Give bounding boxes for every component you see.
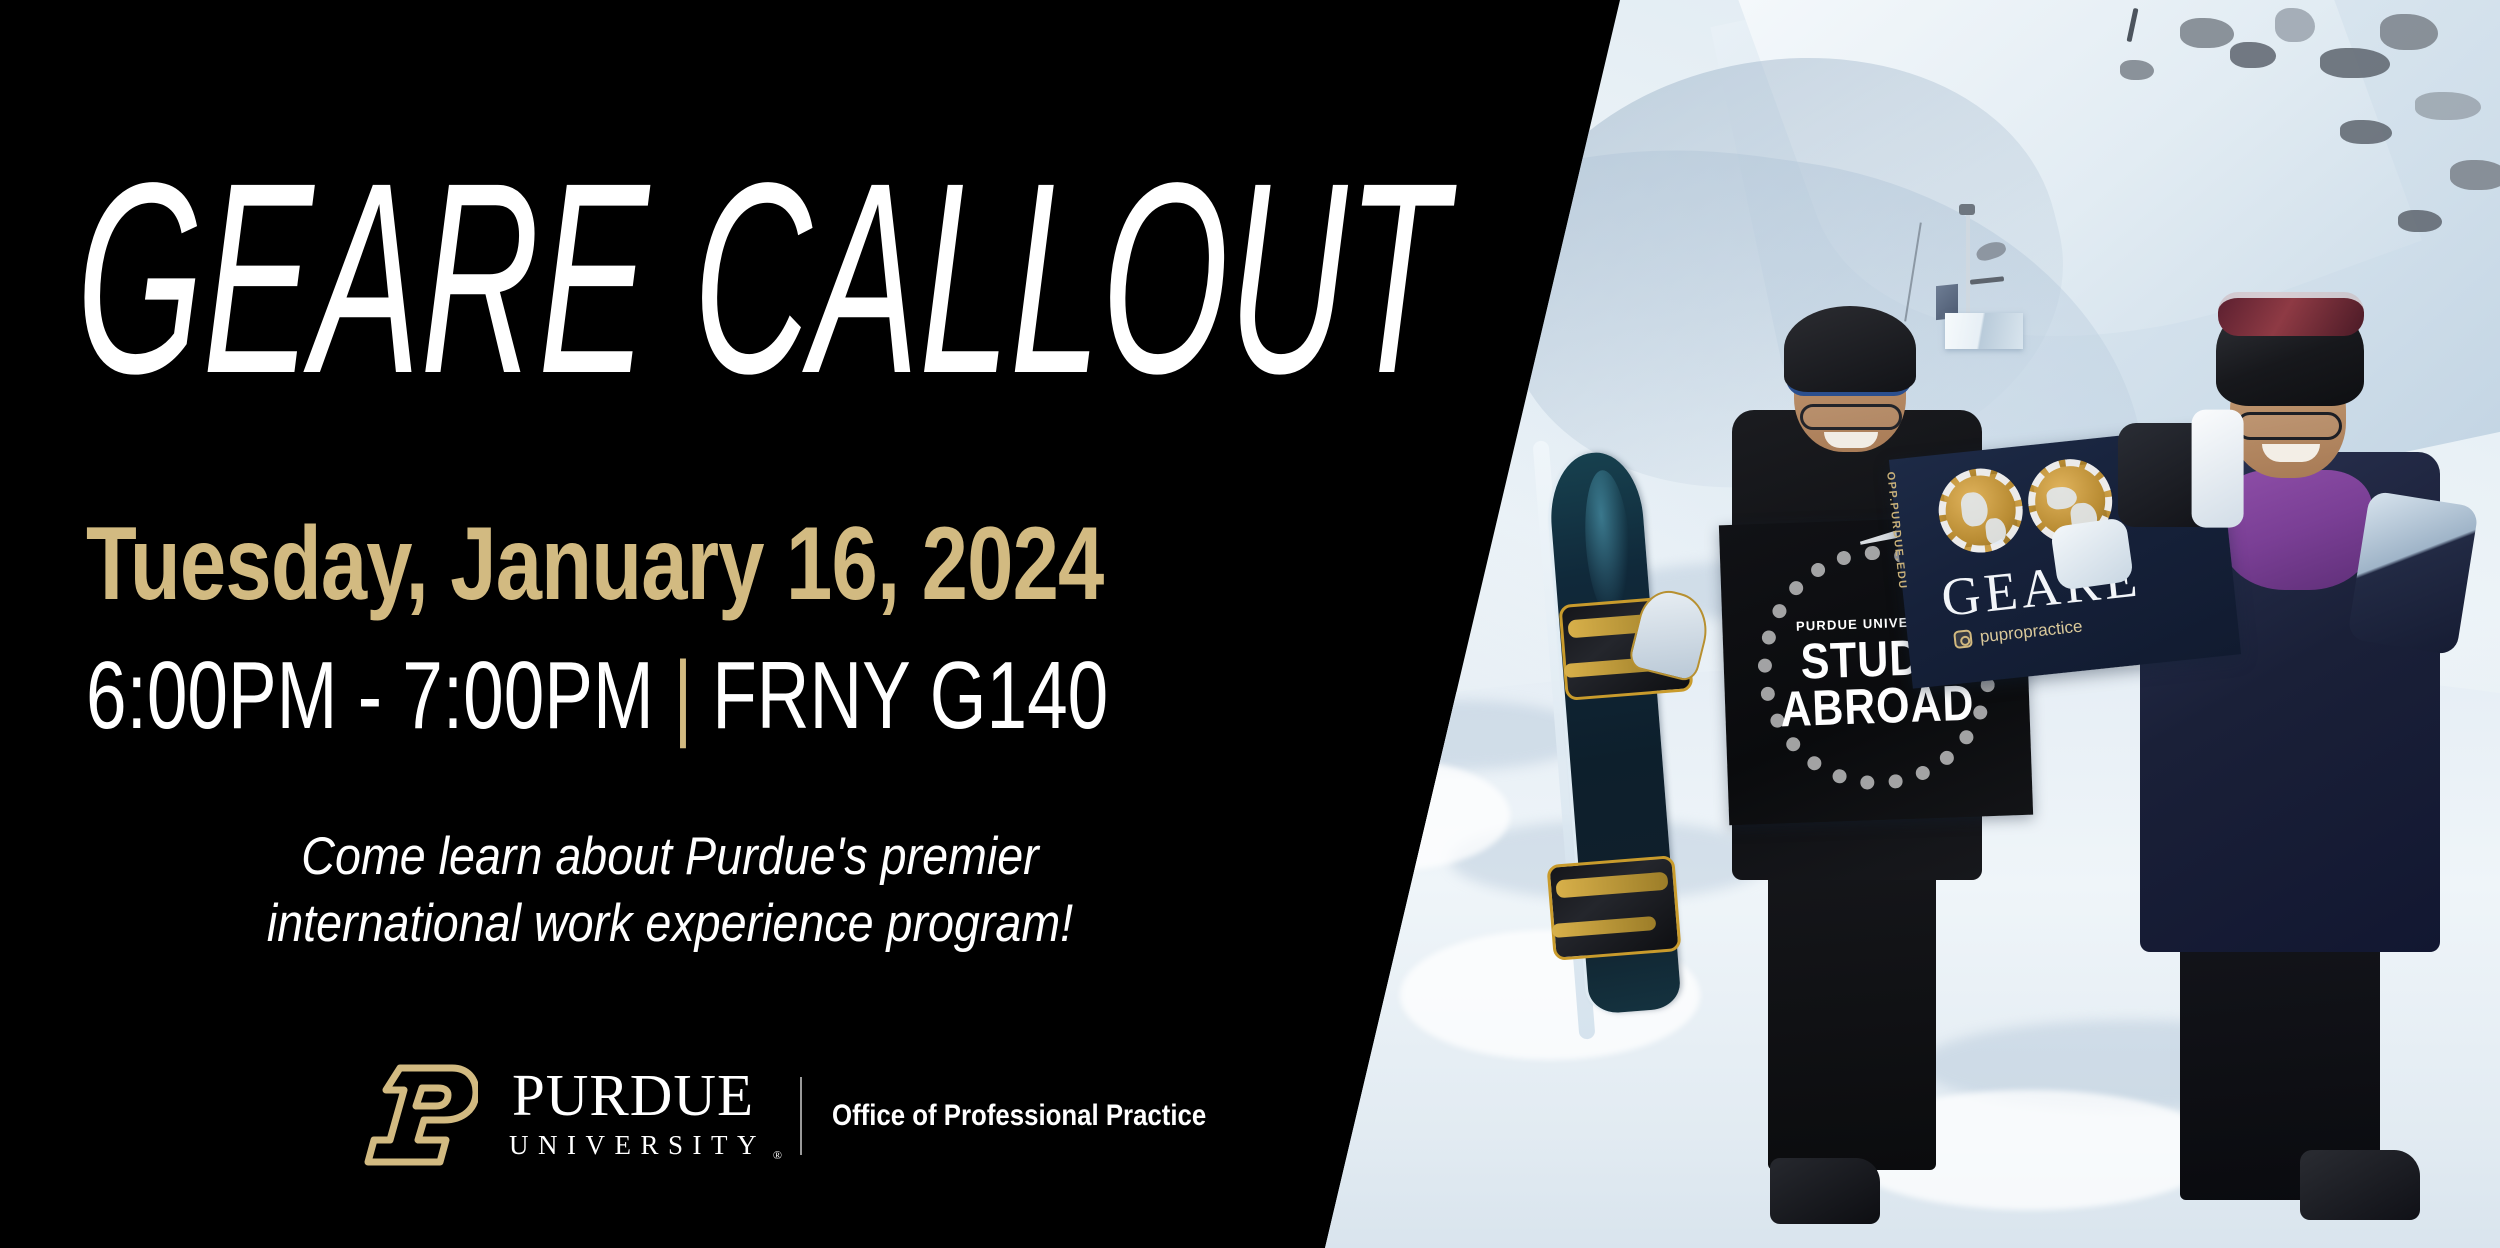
snowboard-binding: [1546, 855, 1681, 961]
rock-outcrop: [2120, 60, 2154, 80]
rock-outcrop: [2450, 160, 2500, 190]
person-right-eyeglasses: [2236, 412, 2342, 440]
purdue-logo-lockup: PURDUE UNIVERSITY ® Office of Profession…: [360, 1062, 1267, 1170]
person-right-cuff: [2192, 410, 2244, 528]
page-title: GEARE CALLOUT: [75, 142, 1447, 414]
registered-trademark-icon: ®: [773, 1146, 782, 1164]
wordmark-university-text: UNIVERSITY: [509, 1130, 766, 1160]
person-right-smile: [2262, 444, 2320, 462]
person-right-scarf: [2222, 470, 2372, 590]
wordmark-purdue: PURDUE: [512, 1066, 754, 1125]
rock-outcrop: [2380, 14, 2438, 50]
event-time-range: 6:00PM - 7:00PM: [86, 648, 654, 744]
person-right-boot: [2300, 1150, 2420, 1220]
person-left-boot: [1770, 1158, 1880, 1224]
tagline-line-2: work experience program!: [534, 894, 1073, 953]
purdue-motion-p-icon: [360, 1062, 478, 1170]
person-right-shoulder: [2347, 490, 2479, 655]
geare-callout-banner: PURDUE UNIVERSITY STUDY ABROAD O: [0, 0, 2500, 1248]
snow-mountain-scene: PURDUE UNIVERSITY STUDY ABROAD O: [1300, 0, 2500, 1248]
anemometer-icon: [1959, 204, 1975, 215]
person-left-helmet: [1784, 306, 1916, 392]
rock-outcrop: [2320, 48, 2390, 78]
instrument-mast: [1966, 214, 1970, 318]
person-left-legs: [1768, 830, 1936, 1170]
instagram-icon: [1953, 629, 1973, 649]
rock-outcrop: [2275, 8, 2315, 42]
weather-station-hut: [1945, 313, 2023, 349]
person-left-eyeglasses: [1800, 404, 1902, 430]
pipe-separator-icon: |: [673, 648, 692, 744]
person-left-smile: [1824, 432, 1878, 448]
event-location: FRNY G140: [712, 648, 1108, 744]
logo-divider: [800, 1077, 802, 1155]
rock-outcrop: [2415, 92, 2481, 120]
continent-shape: [1985, 517, 2008, 545]
person-right-mitten: [2050, 517, 2134, 591]
rock-outcrop: [2340, 120, 2392, 144]
rock-outcrop: [2398, 210, 2442, 232]
purdue-wordmark: PURDUE UNIVERSITY ®: [500, 1066, 766, 1166]
wordmark-university: UNIVERSITY ®: [509, 1125, 766, 1166]
snow-shadow: [1330, 700, 1590, 770]
person-right-ski-goggles: [2218, 292, 2364, 336]
event-date: Tuesday, January 16, 2024: [86, 512, 1104, 616]
continent-shape: [1960, 491, 1989, 528]
rock-outcrop: [2230, 42, 2276, 68]
rock-outcrop: [2180, 18, 2234, 48]
event-tagline: Come learn about Purdue's premier intern…: [204, 824, 1137, 958]
globe-gear-icon: [1935, 464, 2027, 556]
event-time-location: 6:00PM - 7:00PM | FRNY G140: [86, 648, 1108, 744]
office-of-professional-practice-label: Office of Professional Practice: [832, 1099, 1206, 1133]
